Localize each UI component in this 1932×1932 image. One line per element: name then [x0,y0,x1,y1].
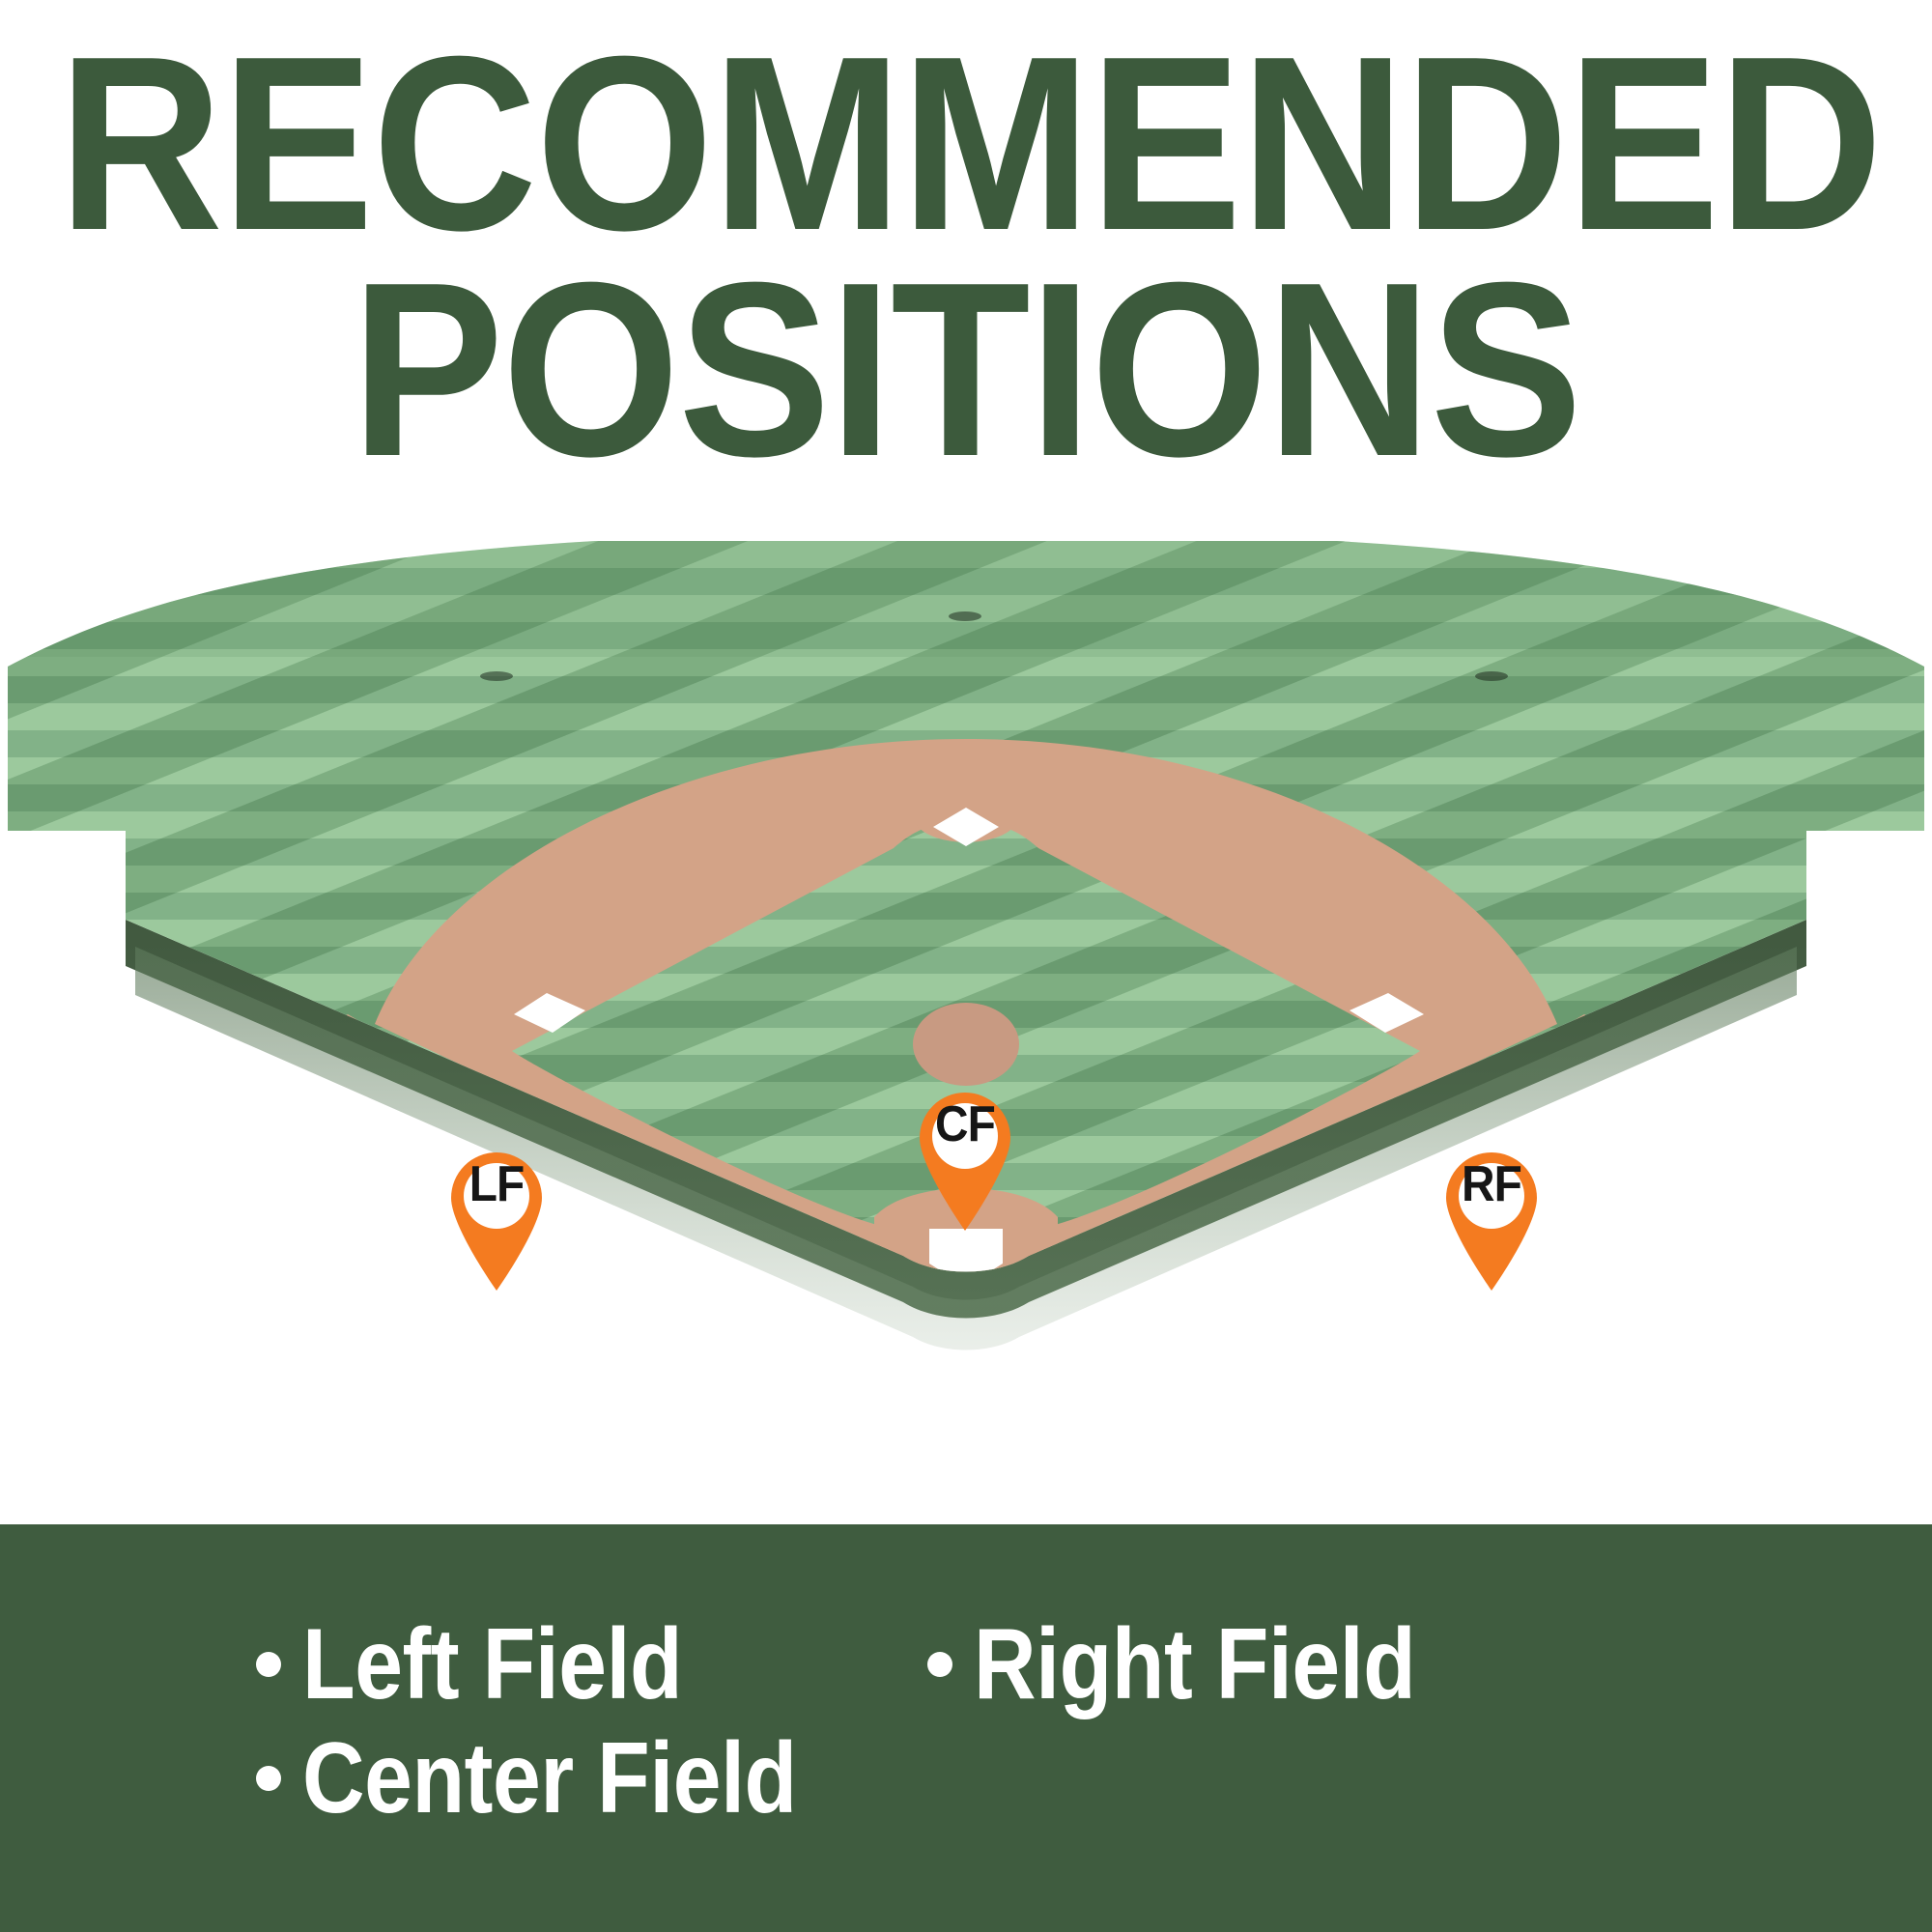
right-field-marker[interactable]: RF [1438,1148,1545,1293]
legend-empty-cell [869,1721,1932,1835]
legend-right-field: Right Field [869,1607,1932,1721]
legend-center-field: Center Field [0,1721,869,1835]
title-line-1: RECOMMENDED [58,29,1874,260]
title-line-2: POSITIONS [58,255,1874,486]
center-field-marker[interactable]: CF [912,1088,1018,1233]
map-pin-icon [912,1088,1018,1233]
map-pin-icon [443,1148,550,1293]
pitchers-mound [913,1003,1019,1086]
legend-center-field-label: Center Field [302,1728,797,1829]
page-title: RECOMMENDED POSITIONS [0,29,1932,482]
map-pin-icon [1438,1148,1545,1293]
field-graphic [0,541,1932,1517]
legend-footer: Left Field Right Field Center Field [0,1524,1932,1932]
legend-left-field-label: Left Field [302,1614,682,1715]
legend-grid: Left Field Right Field Center Field [0,1524,1932,1932]
baseball-field-diagram: LF CF RF [0,541,1932,1517]
legend-left-field: Left Field [0,1607,869,1721]
bullet-dot-icon [927,1652,952,1677]
bullet-dot-icon [256,1766,281,1791]
bullet-dot-icon [256,1652,281,1677]
legend-right-field-label: Right Field [974,1614,1415,1715]
left-field-marker[interactable]: LF [443,1148,550,1293]
infographic-canvas: RECOMMENDED POSITIONS [0,0,1932,1932]
